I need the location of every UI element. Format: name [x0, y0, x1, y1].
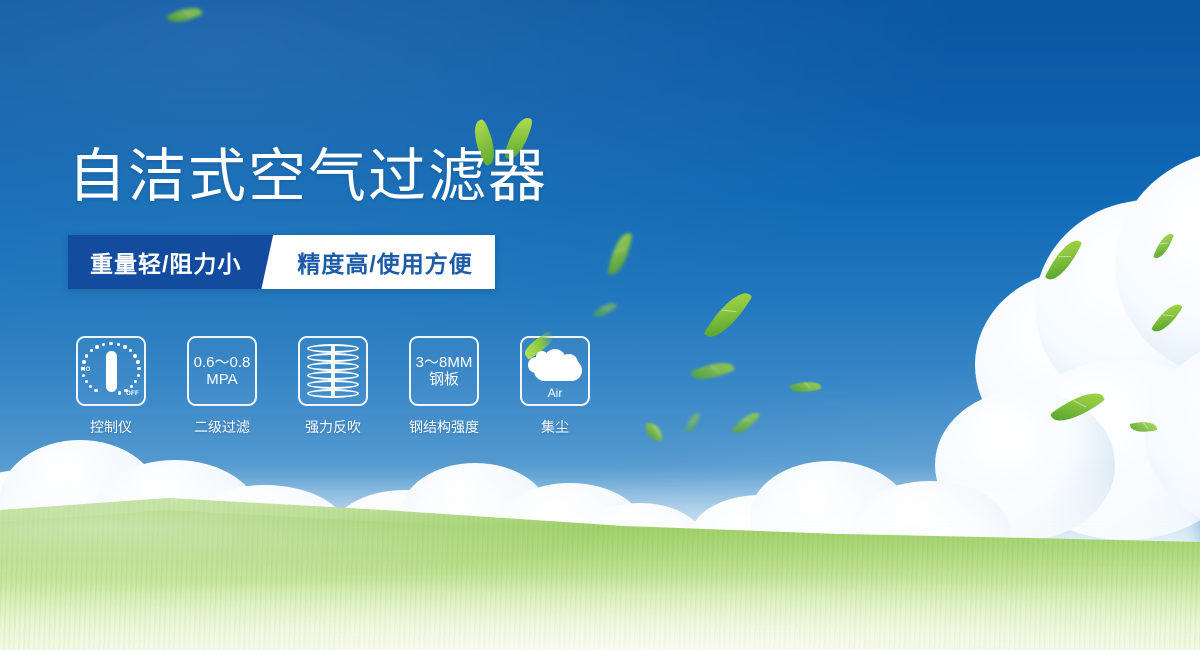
subtitle-right-segment: 精度高/使用方便: [289, 235, 494, 289]
subtitle-divider: [261, 235, 289, 289]
feature-item-dust[interactable]: Air 集尘: [520, 336, 590, 437]
subtitle-bar: 重量轻/阻力小 精度高/使用方便: [68, 235, 495, 289]
feature-list: NO OFF 控制仪 0.6～0.8 MPA 二级过滤: [76, 336, 590, 437]
feature-label: 集尘: [541, 417, 569, 437]
dial-no-label: NO: [81, 367, 91, 373]
steel-plate-text-icon: 3～8MM 钢板: [416, 354, 473, 388]
feature-label: 控制仪: [90, 417, 132, 437]
feature-icon-box: 0.6～0.8 MPA: [187, 336, 257, 406]
feature-label: 强力反吹: [305, 417, 361, 437]
feature-label: 钢结构强度: [409, 417, 479, 437]
coil-spring-icon: [307, 344, 359, 398]
feature-item-steel[interactable]: 3～8MM 钢板 钢结构强度: [409, 336, 479, 437]
dial-off-label: OFF: [126, 391, 139, 397]
feature-icon-box: 3～8MM 钢板: [409, 336, 479, 406]
feature-icon-box: [298, 336, 368, 406]
cloud-air-icon: Air: [526, 345, 584, 397]
product-banner: 自洁式空气过滤器 重量轻/阻力小 精度高/使用方便: [0, 0, 1200, 650]
feature-icon-box: Air: [520, 336, 590, 406]
air-label: Air: [526, 386, 584, 400]
dial-needle: [106, 351, 117, 392]
page-title: 自洁式空气过滤器: [68, 143, 548, 211]
pressure-text-icon: 0.6～0.8 MPA: [194, 354, 251, 388]
dial-gauge-icon: NO OFF: [78, 338, 144, 404]
feature-item-blowback[interactable]: 强力反吹: [298, 336, 368, 437]
subtitle-left-segment: 重量轻/阻力小: [68, 235, 261, 289]
feature-icon-box: NO OFF: [76, 336, 146, 406]
feature-item-pressure[interactable]: 0.6～0.8 MPA 二级过滤: [187, 336, 257, 437]
feature-label: 二级过滤: [194, 417, 250, 437]
feature-item-controller[interactable]: NO OFF 控制仪: [76, 336, 146, 437]
